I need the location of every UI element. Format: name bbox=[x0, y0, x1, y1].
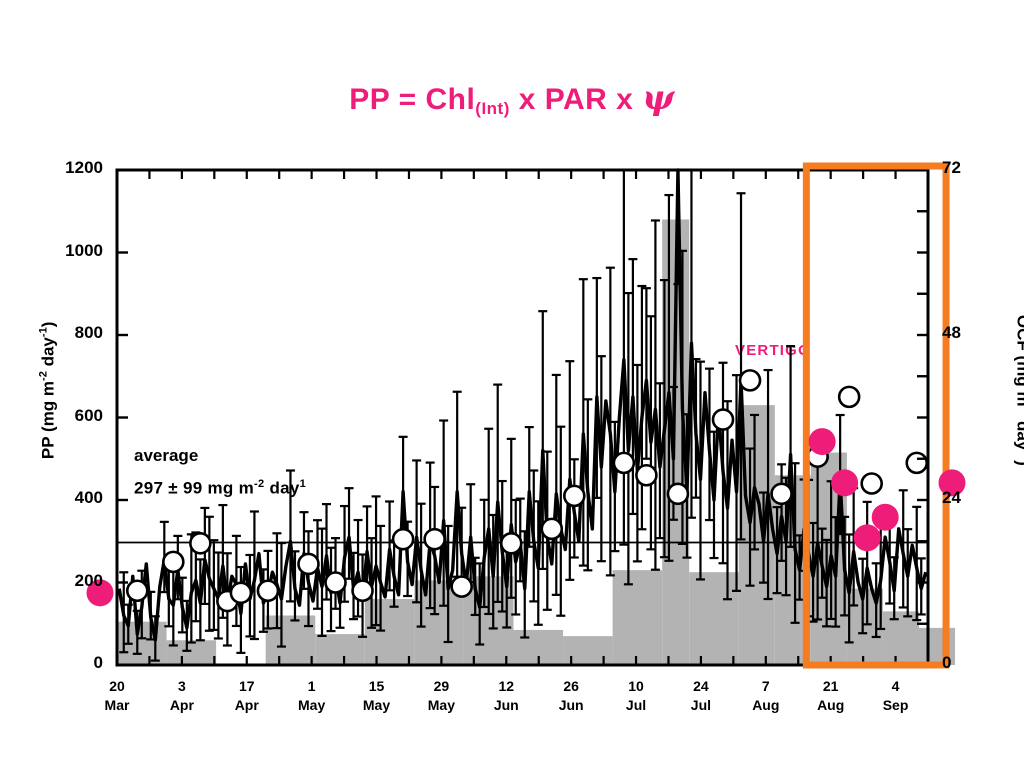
pp-average-marker bbox=[772, 484, 792, 504]
x-axis-tick-label: 4Sep bbox=[866, 677, 926, 715]
pp-average-marker bbox=[907, 453, 927, 473]
ocf-marker bbox=[872, 504, 899, 531]
y-axis-left-tick-label: 800 bbox=[43, 323, 103, 343]
gray-bar bbox=[689, 572, 739, 665]
pp-average-marker bbox=[740, 370, 760, 390]
pp-average-marker bbox=[190, 533, 210, 553]
x-axis-tick-day: 26 bbox=[541, 677, 601, 696]
x-axis-tick-label: 29May bbox=[411, 677, 471, 715]
x-axis-tick-label: 10Jul bbox=[606, 677, 666, 715]
x-axis-tick-month: May bbox=[411, 696, 471, 715]
x-axis-tick-label: 12Jun bbox=[476, 677, 536, 715]
pp-average-marker bbox=[542, 519, 562, 539]
x-axis-tick-label: 20Mar bbox=[87, 677, 147, 715]
x-axis-tick-month: Aug bbox=[736, 696, 796, 715]
x-axis-tick-day: 7 bbox=[736, 677, 796, 696]
pp-average-marker bbox=[258, 581, 278, 601]
x-axis-tick-month: Aug bbox=[801, 696, 861, 715]
x-axis-tick-day: 4 bbox=[866, 677, 926, 696]
x-axis-tick-day: 17 bbox=[217, 677, 277, 696]
y-axis-right-tick-label: 48 bbox=[942, 323, 992, 343]
chart-plot-area bbox=[0, 0, 1024, 768]
x-axis-tick-label: 26Jun bbox=[541, 677, 601, 715]
gray-bar bbox=[613, 570, 663, 665]
pp-average-marker bbox=[326, 573, 346, 593]
x-axis-tick-day: 1 bbox=[282, 677, 342, 696]
x-axis-tick-day: 24 bbox=[671, 677, 731, 696]
x-axis-tick-day: 12 bbox=[476, 677, 536, 696]
x-axis-tick-month: Jul bbox=[606, 696, 666, 715]
pp-average-marker bbox=[425, 529, 445, 549]
pp-average-marker bbox=[163, 552, 183, 572]
pp-average-marker bbox=[127, 581, 147, 601]
pp-average-marker bbox=[839, 387, 859, 407]
x-axis-tick-label: 7Aug bbox=[736, 677, 796, 715]
x-axis-tick-month: May bbox=[347, 696, 407, 715]
y-axis-left-tick-label: 200 bbox=[43, 571, 103, 591]
pp-average-marker bbox=[564, 486, 584, 506]
ocf-marker bbox=[854, 524, 881, 551]
y-axis-left-tick-label: 0 bbox=[43, 653, 103, 673]
x-axis-tick-month: May bbox=[282, 696, 342, 715]
x-axis-tick-month: Jun bbox=[476, 696, 536, 715]
pp-average-marker bbox=[636, 465, 656, 485]
chart-page: PP = Chl(Int) x PAR x ψ PP (mg m-2 day-1… bbox=[0, 0, 1024, 768]
y-axis-right-tick-label: 0 bbox=[942, 653, 992, 673]
pp-average-marker bbox=[501, 533, 521, 553]
y-axis-right-tick-label: 24 bbox=[942, 488, 992, 508]
x-axis-tick-month: Apr bbox=[152, 696, 212, 715]
x-axis-tick-label: 24Jul bbox=[671, 677, 731, 715]
x-axis-tick-month: Jul bbox=[671, 696, 731, 715]
y-axis-right-tick-label: 72 bbox=[942, 158, 992, 178]
x-axis-tick-month: Sep bbox=[866, 696, 926, 715]
ocf-marker bbox=[809, 428, 836, 455]
pp-average-marker bbox=[862, 474, 882, 494]
ocf-marker bbox=[831, 469, 858, 496]
x-axis-tick-month: Apr bbox=[217, 696, 277, 715]
x-axis-tick-label: 1May bbox=[282, 677, 342, 715]
x-axis-tick-day: 29 bbox=[411, 677, 471, 696]
y-axis-left-tick-label: 600 bbox=[43, 406, 103, 426]
pp-average-marker bbox=[231, 583, 251, 603]
x-axis-tick-label: 17Apr bbox=[217, 677, 277, 715]
x-axis-tick-month: Jun bbox=[541, 696, 601, 715]
pp-average-marker bbox=[452, 577, 472, 597]
y-axis-left-tick-label: 1000 bbox=[43, 241, 103, 261]
x-axis-tick-label: 21Aug bbox=[801, 677, 861, 715]
pp-average-marker bbox=[353, 581, 373, 601]
x-axis-tick-day: 15 bbox=[347, 677, 407, 696]
x-axis-tick-day: 3 bbox=[152, 677, 212, 696]
x-axis-tick-label: 15May bbox=[347, 677, 407, 715]
pp-average-marker bbox=[298, 554, 318, 574]
gray-bar bbox=[315, 634, 365, 665]
x-axis-tick-label: 3Apr bbox=[152, 677, 212, 715]
x-axis-tick-day: 21 bbox=[801, 677, 861, 696]
pp-average-marker bbox=[668, 484, 688, 504]
x-axis-tick-day: 10 bbox=[606, 677, 666, 696]
x-axis-tick-day: 20 bbox=[87, 677, 147, 696]
x-axis-tick-month: Mar bbox=[87, 696, 147, 715]
y-axis-left-tick-label: 400 bbox=[43, 488, 103, 508]
y-axis-left-tick-label: 1200 bbox=[43, 158, 103, 178]
pp-average-marker bbox=[614, 453, 634, 473]
pp-average-marker bbox=[393, 529, 413, 549]
pp-average-marker bbox=[713, 410, 733, 430]
